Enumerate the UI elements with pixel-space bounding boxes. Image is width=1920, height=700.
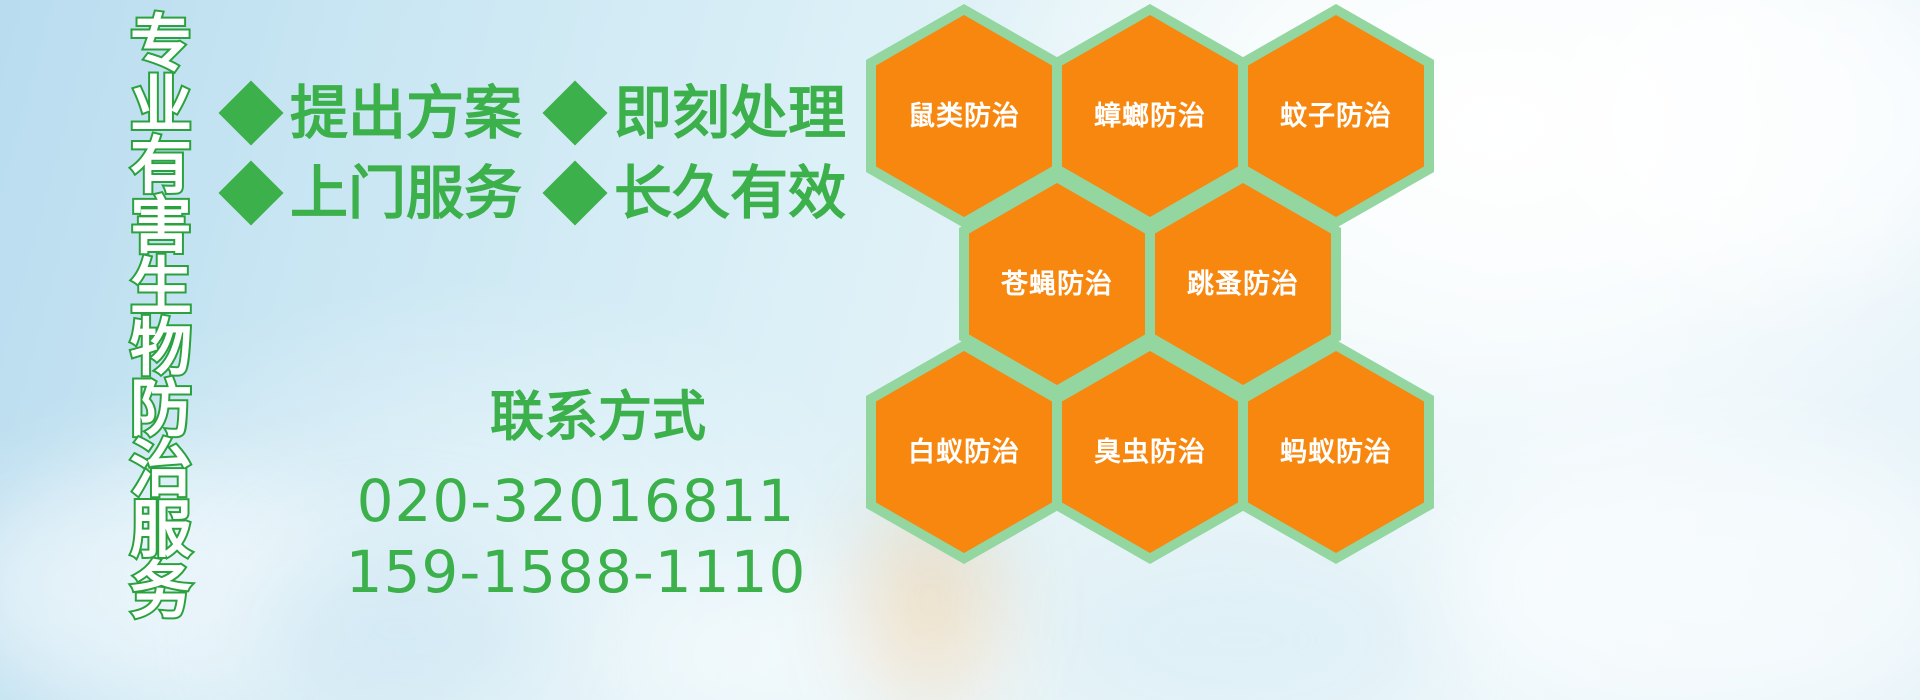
vertical-headline-char: 治: [130, 439, 192, 500]
hex-inner: 鼠类防治: [876, 15, 1052, 217]
service-hex-grid: 鼠类防治 蟑螂防治 蚊子防治 苍蝇防治 跳蚤防治 白蚁防治: [856, 0, 1476, 554]
hex-inner: 蚊子防治: [1248, 15, 1424, 217]
phone-number-landline[interactable]: 020-32016811: [264, 466, 888, 537]
hex-inner: 白蚁防治: [876, 351, 1052, 553]
contact-title: 联系方式: [308, 390, 888, 444]
hex-inner: 臭虫防治: [1062, 351, 1238, 553]
background-glow-6: [1560, 0, 1920, 280]
contact-block: 联系方式 020-32016811 159-1588-1110: [228, 390, 888, 608]
hex-inner: 蚂蚁防治: [1248, 351, 1424, 553]
vertical-headline-char: 物: [130, 318, 192, 379]
feature-label: 即刻处理: [614, 84, 846, 142]
phone-number-mobile[interactable]: 159-1588-1110: [264, 537, 888, 608]
vertical-headline-char: 务: [130, 561, 192, 622]
service-hex-label: 跳蚤防治: [1187, 271, 1299, 298]
vertical-headline: 专 业 有 害 生 物 防 治 服 务: [106, 14, 216, 574]
service-hex-label: 鼠类防治: [908, 103, 1020, 130]
diamond-icon: [542, 80, 607, 145]
service-hex-label: 蚂蚁防治: [1280, 439, 1392, 466]
background-glow-4: [1050, 540, 1430, 700]
vertical-headline-char: 服: [130, 500, 192, 561]
service-hex-label: 蟑螂防治: [1094, 103, 1206, 130]
feature-list: 提出方案 即刻处理 上门服务 长久有效: [228, 84, 868, 244]
hex-inner: 跳蚤防治: [1155, 183, 1331, 385]
vertical-headline-char: 防: [130, 379, 192, 440]
feature-row: 提出方案 即刻处理: [228, 84, 868, 142]
vertical-headline-char: 业: [130, 75, 192, 136]
service-hex-label: 苍蝇防治: [1001, 271, 1113, 298]
feature-row: 上门服务 长久有效: [228, 164, 868, 222]
service-hex-label: 臭虫防治: [1094, 439, 1206, 466]
feature-label: 提出方案: [290, 84, 522, 142]
service-hex-label: 白蚁防治: [908, 439, 1020, 466]
diamond-icon: [542, 160, 607, 225]
diamond-icon: [218, 80, 283, 145]
pest-control-banner: 专 业 有 害 生 物 防 治 服 务 提出方案 即刻处理 上门服务 长久有效 …: [0, 0, 1920, 700]
vertical-headline-char: 有: [130, 136, 192, 197]
service-hex-label: 蚊子防治: [1280, 103, 1392, 130]
feature-label: 上门服务: [290, 164, 522, 222]
hex-inner: 苍蝇防治: [969, 183, 1145, 385]
vertical-headline-char: 害: [130, 196, 192, 257]
diamond-icon: [218, 160, 283, 225]
vertical-headline-char: 专: [130, 14, 192, 75]
feature-label: 长久有效: [614, 164, 846, 222]
vertical-headline-char: 生: [130, 257, 192, 318]
hex-inner: 蟑螂防治: [1062, 15, 1238, 217]
background-glow-5: [1450, 430, 1920, 700]
